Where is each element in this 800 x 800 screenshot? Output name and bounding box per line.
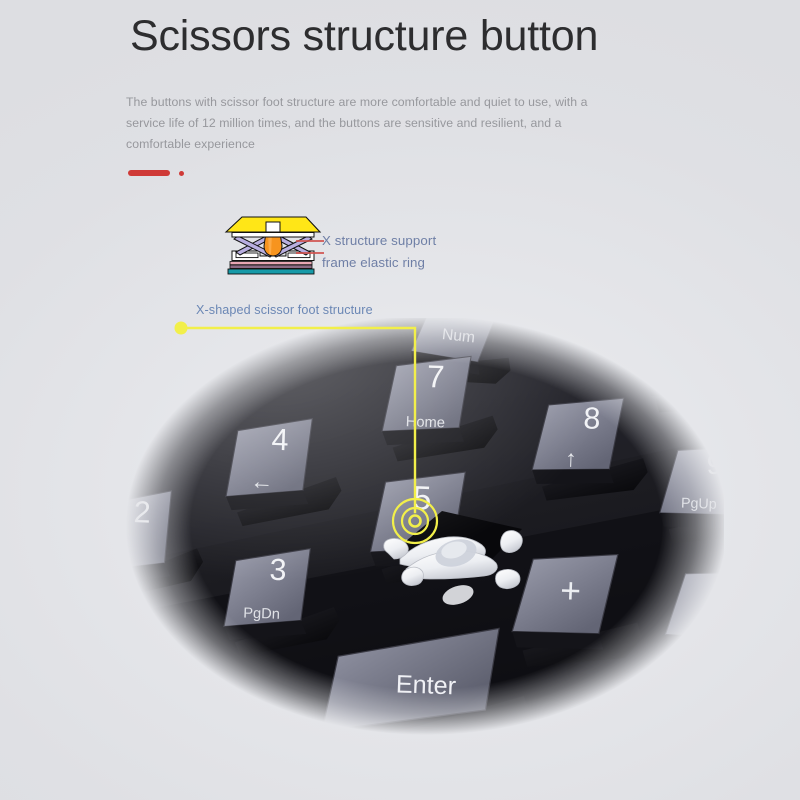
page-title: Scissors structure button	[130, 14, 598, 59]
page-description: The buttons with scissor foot structure …	[126, 92, 606, 155]
diagram-label-line-2: frame elastic ring	[322, 252, 436, 274]
keyboard-photo: Num 7 Home 8 ↑ 9 PgUp	[104, 318, 724, 750]
layer-membrane-pink	[230, 262, 312, 265]
accent-dot	[179, 171, 184, 176]
product-feature-page: Scissors structure button The buttons wi…	[0, 0, 800, 800]
callout-label: X-shaped scissor foot structure	[196, 303, 373, 317]
scissor-structure-diagram	[214, 210, 334, 278]
diagram-leader-line-2	[296, 252, 324, 254]
diagram-leader-line-1	[296, 240, 324, 242]
accent-divider	[128, 170, 184, 176]
diagram-label: X structure support frame elastic ring	[322, 230, 436, 273]
layer-pcb-teal	[228, 269, 314, 274]
diagram-label-line-1: X structure support	[322, 230, 436, 252]
accent-bar	[128, 170, 170, 176]
layer-membrane-mauve	[230, 265, 312, 268]
